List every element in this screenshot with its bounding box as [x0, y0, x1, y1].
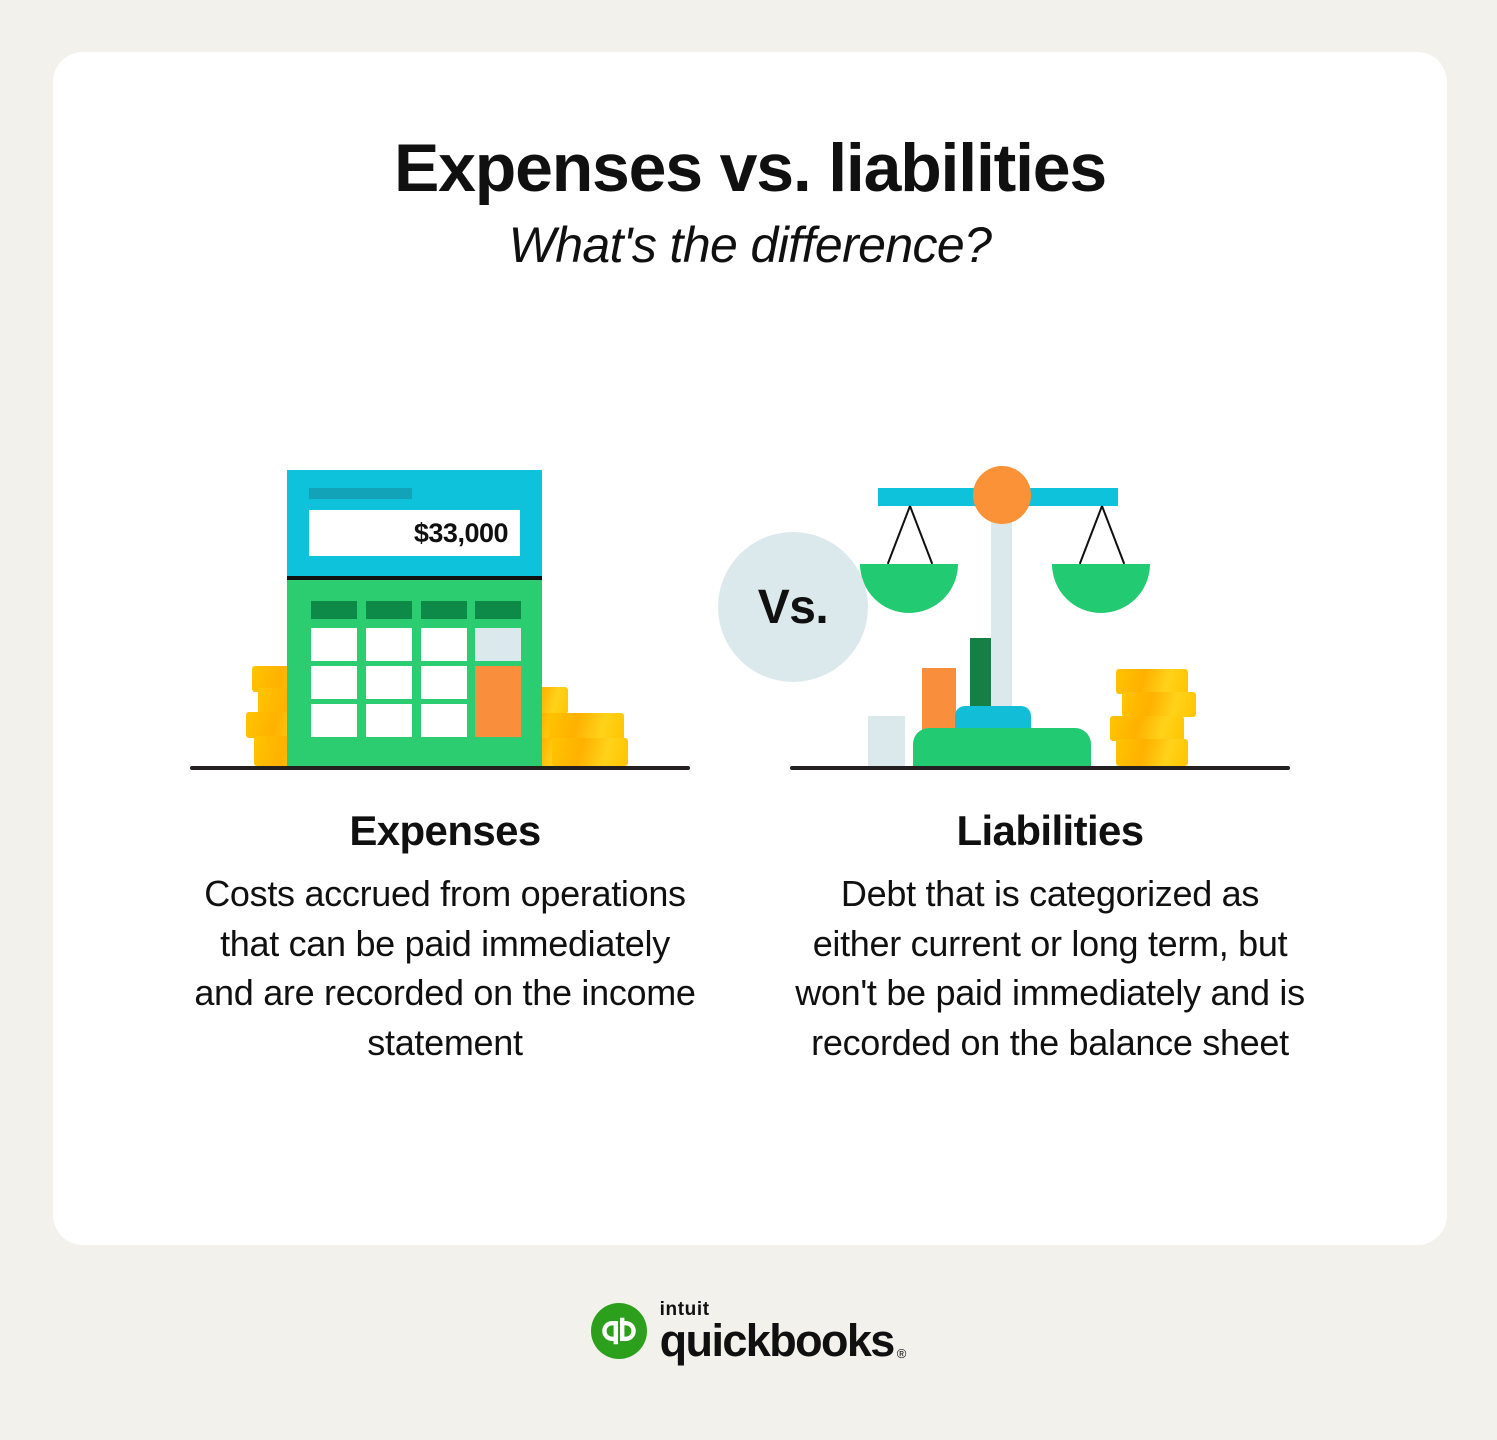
infographic-page: Expenses vs. liabilities What's the diff…	[0, 0, 1497, 1440]
vs-badge: Vs.	[718, 532, 868, 682]
calculator-key	[421, 666, 467, 699]
calculator-key	[311, 601, 357, 619]
calculator-key	[311, 666, 357, 699]
coin	[1122, 692, 1196, 717]
scale-pivot-icon	[973, 466, 1031, 524]
scale-string	[1079, 506, 1103, 565]
calculator-illustration: $33,000	[190, 402, 690, 782]
calculator-key	[421, 601, 467, 619]
quickbooks-qb-icon	[591, 1303, 647, 1359]
calculator-key	[366, 601, 412, 619]
calculator-key	[311, 704, 357, 737]
ground-line-right	[790, 766, 1290, 770]
scale-base	[913, 728, 1091, 766]
coin	[552, 738, 628, 766]
calculator-key-enter	[475, 666, 521, 737]
quickbooks-logo: intuit quickbooks ®	[591, 1300, 907, 1363]
calculator-key	[421, 628, 467, 661]
calculator-key	[311, 628, 357, 661]
coin-stack-right	[522, 688, 672, 766]
column-heading: Liabilities	[795, 807, 1305, 855]
quickbooks-wordmark-row: quickbooks ®	[660, 1320, 907, 1363]
calculator-top-panel: $33,000	[287, 470, 542, 580]
scale-column	[991, 518, 1012, 706]
calculator: $33,000	[287, 470, 542, 766]
calculator-key	[475, 601, 521, 619]
registered-mark: ®	[897, 1347, 907, 1360]
scale-pan-right	[1052, 564, 1150, 613]
scale-pan-left	[860, 564, 958, 613]
coin	[1116, 739, 1188, 766]
content-card: Expenses vs. liabilities What's the diff…	[53, 52, 1447, 1245]
column-heading: Expenses	[190, 807, 700, 855]
bar-chart-bar-small	[868, 716, 905, 766]
scale-string	[1101, 506, 1125, 565]
column-expenses: Expenses Costs accrued from operations t…	[190, 807, 700, 1068]
column-liabilities: Liabilities Debt that is categorized as …	[795, 807, 1305, 1068]
calculator-key	[366, 628, 412, 661]
calculator-key	[366, 704, 412, 737]
quickbooks-wordmark: intuit quickbooks ®	[660, 1300, 907, 1363]
footer: intuit quickbooks ®	[0, 1300, 1497, 1363]
scale-string	[887, 506, 911, 565]
calculator-key	[366, 666, 412, 699]
column-body: Costs accrued from operations that can b…	[190, 869, 700, 1068]
calculator-keypad-body	[287, 580, 542, 766]
coin-stack-scale	[1110, 670, 1200, 766]
page-title: Expenses vs. liabilities	[53, 134, 1447, 202]
calculator-amount: $33,000	[414, 518, 520, 549]
calculator-key-pale	[475, 628, 521, 661]
vs-label: Vs.	[758, 580, 829, 635]
coin	[548, 713, 624, 740]
quickbooks-text: quickbooks	[660, 1320, 894, 1363]
calculator-screen: $33,000	[309, 510, 520, 556]
calculator-keys	[311, 601, 521, 749]
header: Expenses vs. liabilities What's the diff…	[53, 134, 1447, 270]
scale-string	[909, 506, 933, 565]
column-body: Debt that is categorized as either curre…	[795, 869, 1305, 1068]
page-subtitle: What's the difference?	[53, 220, 1447, 270]
ground-line-left	[190, 766, 690, 770]
coin	[1110, 716, 1184, 741]
calculator-key	[421, 704, 467, 737]
coin	[1116, 669, 1188, 694]
calculator-slot	[309, 488, 412, 499]
